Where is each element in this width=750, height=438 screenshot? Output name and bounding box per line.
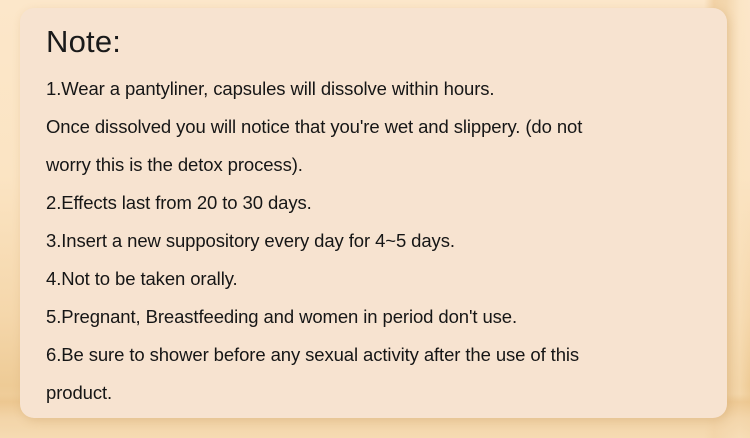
- note-line: 4.Not to be taken orally.: [46, 260, 701, 298]
- note-line: 6.Be sure to shower before any sexual ac…: [46, 336, 701, 374]
- note-line: 2.Effects last from 20 to 30 days.: [46, 184, 701, 222]
- note-panel: Note: 1.Wear a pantyliner, capsules will…: [20, 8, 727, 418]
- note-line: 5.Pregnant, Breastfeeding and women in p…: [46, 298, 701, 336]
- note-line: Once dissolved you will notice that you'…: [46, 108, 701, 146]
- note-heading: Note:: [46, 22, 701, 62]
- note-line-list: 1.Wear a pantyliner, capsules will disso…: [46, 70, 701, 412]
- note-line: worry this is the detox process).: [46, 146, 701, 184]
- note-line: 1.Wear a pantyliner, capsules will disso…: [46, 70, 701, 108]
- note-line: product.: [46, 374, 701, 412]
- note-line: 3.Insert a new suppository every day for…: [46, 222, 701, 260]
- note-card: Note: 1.Wear a pantyliner, capsules will…: [0, 0, 750, 438]
